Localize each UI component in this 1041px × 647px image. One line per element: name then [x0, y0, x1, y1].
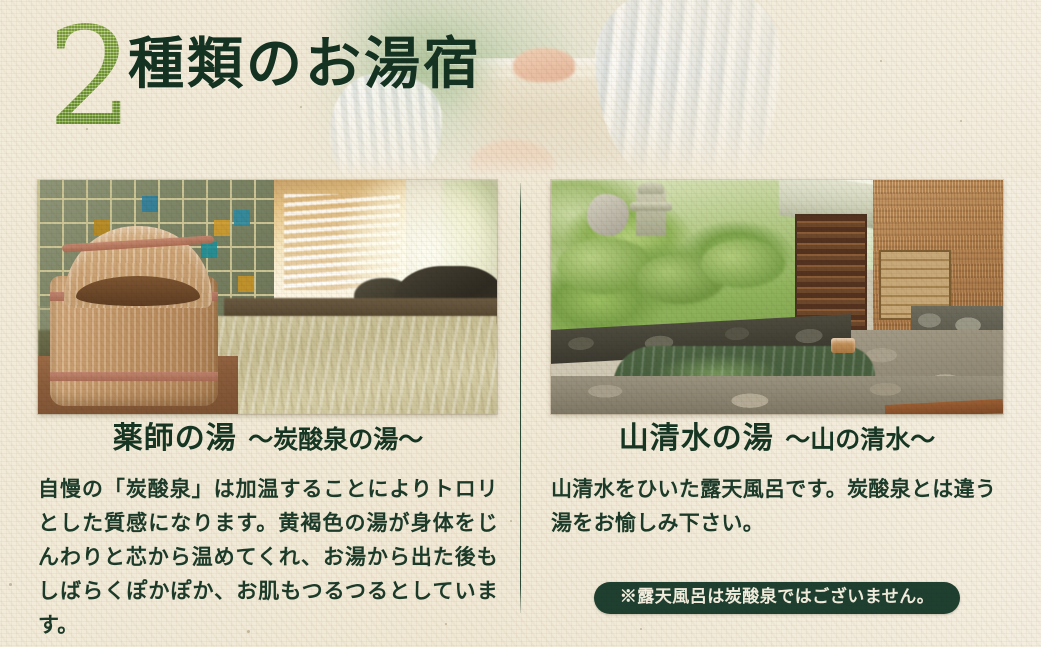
panel-body-yakushi: 自慢の「炭酸泉」は加温することによりトロリとした質感になります。黄褐色の湯が身体…	[38, 472, 498, 642]
accent-tile	[142, 196, 158, 212]
panel-yakushi: 薬師の湯 〜炭酸泉の湯〜 自慢の「炭酸泉」は加温することによりトロリとした質感に…	[38, 424, 498, 642]
panel-body-yamashimizu: 山清水をひいた露天風呂です。炭酸泉とは違う湯をお愉しみ下さい。	[551, 472, 1003, 540]
indoor-bath-scene	[38, 180, 497, 414]
header-number: 2	[47, 10, 130, 146]
wooden-slat-fence	[797, 216, 865, 330]
panel-title-main: 薬師の湯	[113, 421, 237, 456]
panel-title-main: 山清水の湯	[619, 421, 774, 456]
page-title: 種類のお湯宿	[128, 36, 482, 92]
panel-title-sub: 〜炭酸泉の湯〜	[248, 425, 423, 454]
towel-drape-shape	[595, 0, 780, 178]
paper-speck	[9, 583, 12, 586]
paper-speck	[640, 628, 642, 630]
poster-page: 2 種類のお湯宿	[0, 0, 1041, 647]
photo-outdoor-bath	[551, 180, 1003, 414]
outdoor-bath-scene	[551, 180, 1003, 414]
wooden-pail	[831, 338, 855, 353]
note-container: ※露天風呂は炭酸泉ではございません。	[551, 582, 1003, 614]
hand-thumb-shape	[513, 48, 575, 82]
paper-speck	[510, 520, 512, 522]
accent-tile	[238, 276, 254, 292]
panel-title-yamashimizu: 山清水の湯 〜山の清水〜	[551, 424, 1003, 454]
status-badge-note: ※露天風呂は炭酸泉ではございません。	[594, 582, 961, 614]
accent-tile	[214, 220, 230, 236]
accent-tile	[201, 242, 217, 258]
photo-indoor-bath	[38, 180, 497, 414]
stone-lantern	[636, 190, 666, 236]
accent-tile	[234, 210, 250, 226]
shrub	[701, 240, 785, 288]
panel-title-sub: 〜山の清水〜	[785, 425, 935, 454]
garden-rock	[587, 194, 629, 236]
tub-band-bottom	[50, 372, 218, 381]
panel-yamashimizu: 山清水の湯 〜山の清水〜 山清水をひいた露天風呂です。炭酸泉とは違う湯をお愉しみ…	[551, 424, 1003, 540]
vertical-divider	[520, 183, 521, 613]
panel-title-yakushi: 薬師の湯 〜炭酸泉の湯〜	[38, 424, 498, 454]
